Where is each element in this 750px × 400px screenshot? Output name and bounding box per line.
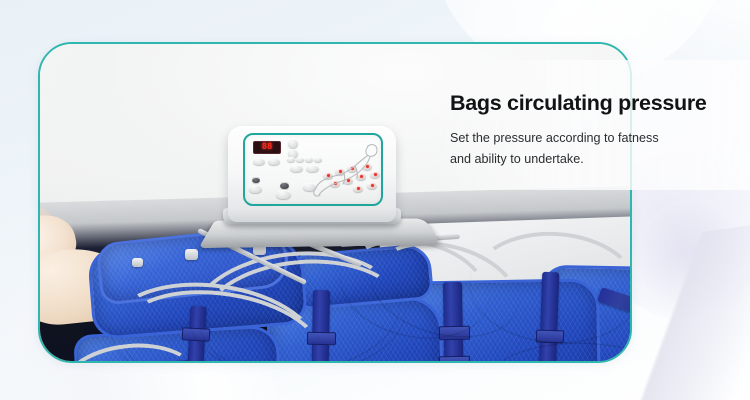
panel-button-mode[interactable] bbox=[253, 158, 265, 165]
panel-button-zone[interactable] bbox=[303, 183, 316, 191]
panel-zone-indicator[interactable] bbox=[330, 180, 340, 187]
panel-zone-indicator[interactable] bbox=[370, 171, 380, 178]
panel-zone-indicator[interactable] bbox=[347, 165, 357, 172]
panel-button-dark[interactable] bbox=[252, 177, 260, 183]
background-arc-right-small bbox=[635, 198, 750, 318]
panel-indicator bbox=[305, 157, 313, 162]
subtitle-line-2: and ability to undertake. bbox=[450, 152, 584, 166]
panel-button-up[interactable] bbox=[288, 139, 298, 148]
panel-zone-indicator[interactable] bbox=[353, 185, 363, 192]
subtitle-line-1: Set the pressure according to fatness bbox=[450, 131, 659, 145]
panel-zone-indicator[interactable] bbox=[335, 168, 345, 175]
page-title: Bags circulating pressure bbox=[450, 92, 740, 116]
panel-button-dark[interactable] bbox=[280, 182, 289, 189]
panel-indicator bbox=[296, 157, 304, 162]
panel-zone-indicator[interactable] bbox=[362, 163, 372, 170]
panel-button-zone[interactable] bbox=[276, 190, 291, 199]
page-subtitle: Set the pressure according to fatness an… bbox=[450, 128, 690, 171]
panel-indicator bbox=[314, 157, 322, 162]
panel-button-start[interactable] bbox=[290, 165, 303, 172]
panel-zone-indicator[interactable] bbox=[343, 177, 353, 184]
product-banner: 88 bbox=[0, 0, 750, 400]
text-block: Bags circulating pressure Set the pressu… bbox=[450, 92, 740, 171]
led-display: 88 bbox=[253, 141, 281, 154]
led-value: 88 bbox=[262, 143, 273, 152]
panel-indicator bbox=[287, 157, 295, 162]
panel-button-zone[interactable] bbox=[249, 185, 262, 193]
hose-connector bbox=[132, 258, 143, 267]
panel-zone-indicator[interactable] bbox=[367, 182, 377, 189]
panel-button-time[interactable] bbox=[268, 158, 280, 165]
strap-buckle bbox=[439, 356, 470, 363]
panel-zone-indicator[interactable] bbox=[323, 172, 333, 179]
panel-zone-indicator[interactable] bbox=[356, 173, 366, 180]
hose-connector bbox=[185, 249, 198, 260]
panel-button-stop[interactable] bbox=[306, 165, 319, 172]
